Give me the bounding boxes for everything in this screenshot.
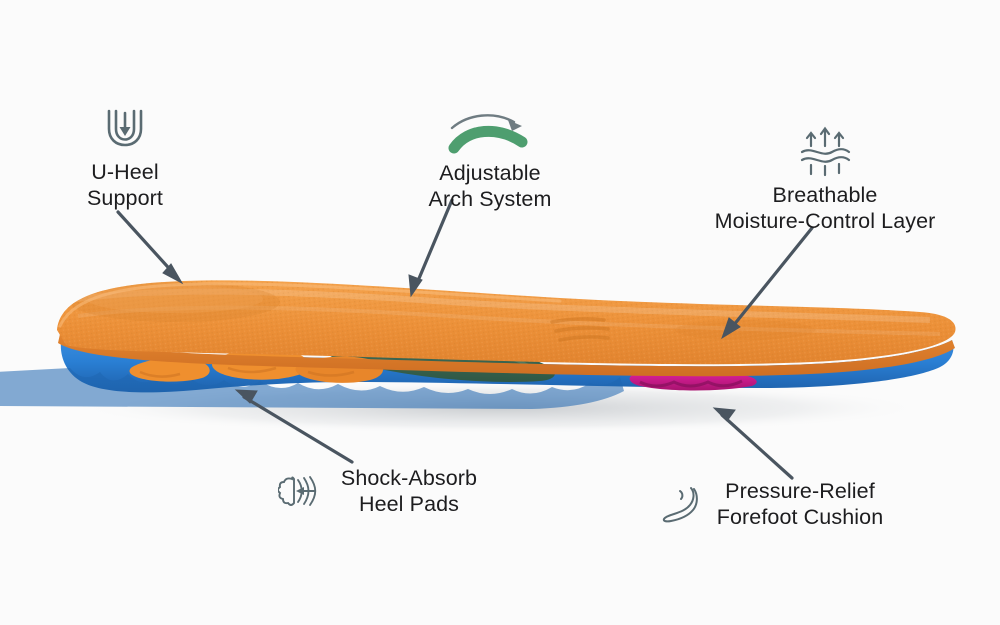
u-heel-icon xyxy=(30,105,220,153)
callout-u-heel-support[interactable]: U-Heel Support xyxy=(30,105,220,211)
callout-pressure-relief-forefoot[interactable]: Pressure-Relief Forefoot Cushion xyxy=(660,478,885,530)
insole-illustration xyxy=(0,0,1000,625)
arrow-u-heel-support xyxy=(118,212,182,283)
callout-label: Adjustable Arch System xyxy=(390,160,590,212)
callout-label: Breathable Moisture-Control Layer xyxy=(690,182,960,234)
callout-label: Shock-Absorb Heel Pads xyxy=(330,465,488,517)
arrow-adjustable-arch-system xyxy=(409,200,452,296)
callout-breathable-layer[interactable]: Breathable Moisture-Control Layer xyxy=(690,126,960,234)
callout-label: U-Heel Support xyxy=(30,159,220,211)
insole-svg xyxy=(0,0,1000,625)
breathable-icon xyxy=(690,126,960,178)
foot-outline-icon xyxy=(660,483,706,525)
shock-absorb-icon xyxy=(278,471,322,511)
callout-adjustable-arch-system[interactable]: Adjustable Arch System xyxy=(390,112,590,212)
callout-label: Pressure-Relief Forefoot Cushion xyxy=(715,478,885,530)
arch-curve-icon xyxy=(390,112,590,154)
infographic-canvas: U-Heel Support Adjustable Arch System xyxy=(0,0,1000,625)
callout-shock-absorb-heel-pads[interactable]: Shock-Absorb Heel Pads xyxy=(278,465,488,517)
